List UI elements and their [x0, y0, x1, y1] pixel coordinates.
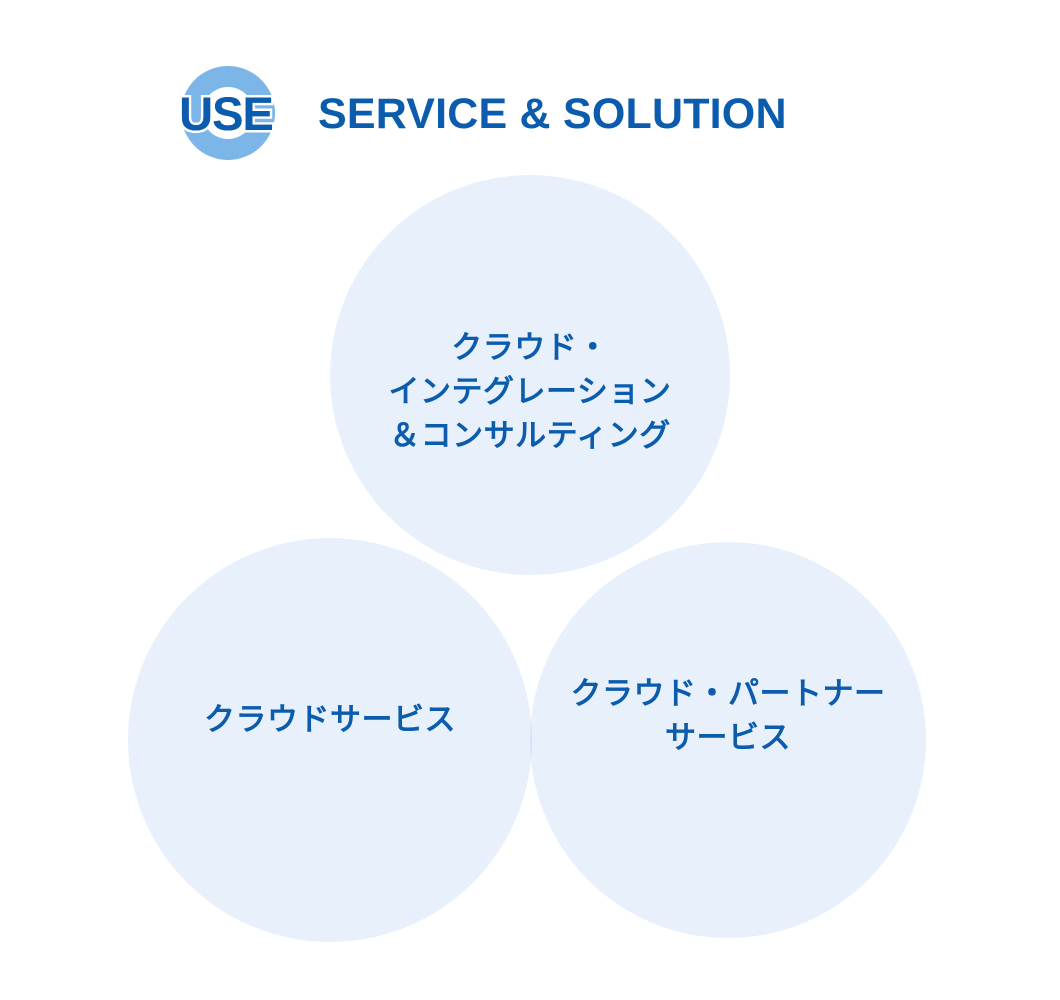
use-logo-icon: USE USE [178, 60, 290, 168]
venn-label-cloud-integration-consulting: クラウド・ インテグレーション ＆コンサルティング [330, 326, 730, 458]
header: USE USE SERVICE & SOLUTION [178, 60, 787, 168]
use-logo: USE USE [178, 60, 290, 168]
page-title: SERVICE & SOLUTION [318, 93, 787, 136]
logo-wordmark: USE [179, 87, 273, 140]
venn-label-cloud-partner-service: クラウド・パートナー サービス [520, 672, 936, 760]
venn-label-cloud-service: クラウドサービス [150, 698, 510, 742]
page-root: クラウド・ インテグレーション ＆コンサルティング クラウドサービス クラウド・… [0, 0, 1060, 1000]
